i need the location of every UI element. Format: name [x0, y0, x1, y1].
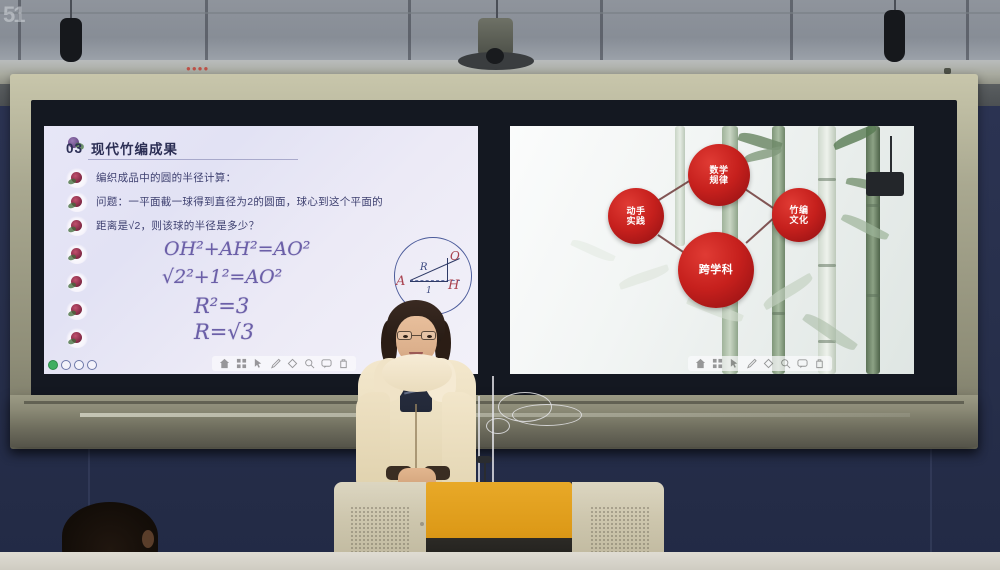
right-display-screen[interactable]: 数学 规律 动手 实践 竹编 文化 跨学科 [510, 126, 914, 374]
classroom-scene: 51 03 现代竹编成果 编织成品中的圆的半径计算： 问题：一平面截一球得到直径… [0, 0, 1000, 570]
diagram-label-O: O [450, 249, 460, 263]
left-whiteboard-toolbar[interactable] [212, 356, 356, 371]
slide-mini-controls[interactable] [48, 360, 97, 370]
teacher-arm-left [356, 392, 390, 490]
prev-button[interactable] [61, 360, 71, 370]
mindmap-node-label: 竹编 [789, 205, 808, 215]
slide-interdisciplinary-mindmap: 数学 规律 动手 实践 竹编 文化 跨学科 [510, 126, 914, 374]
rose-bullet-icon [66, 244, 88, 264]
cable-loop [512, 404, 582, 426]
mindmap-node-label: 规律 [709, 175, 728, 185]
grid-icon[interactable] [236, 358, 247, 369]
diagram-label-R: R [420, 262, 428, 273]
mindmap-node-label: 文化 [789, 215, 808, 225]
channel-watermark: 51 [0, 0, 34, 30]
bamboo-leaf [841, 211, 890, 243]
ceiling-speaker-right [884, 10, 905, 62]
foreground-desk [0, 552, 1000, 570]
mindmap-node-label: 跨学科 [699, 264, 734, 276]
pen-icon[interactable] [270, 358, 281, 369]
handwriting-line-4: R=√3 [194, 320, 254, 344]
rose-bullet-icon [66, 272, 88, 292]
mindmap-node-interdisciplinary[interactable]: 跨学科 [678, 232, 754, 308]
trash-icon[interactable] [814, 358, 825, 369]
mindmap-node-bamboo-culture[interactable]: 竹编 文化 [772, 188, 826, 242]
right-whiteboard-toolbar[interactable] [688, 356, 832, 371]
slide-number: 03 [66, 141, 83, 156]
rose-bullet-icon [66, 168, 88, 188]
mindmap-node-math-rules[interactable]: 数学 规律 [688, 144, 750, 206]
bamboo-stalk [866, 126, 880, 374]
wall-camera [866, 172, 904, 196]
play-button[interactable] [74, 360, 84, 370]
title-divider [88, 159, 298, 160]
rose-bullet-icon [66, 300, 88, 320]
slide-title: 现代竹编成果 [91, 138, 178, 158]
pen-icon[interactable] [746, 358, 757, 369]
slide-line-3: 距离是√2，则该球的半径是多少？ [96, 218, 259, 233]
bamboo-stalk [772, 126, 785, 374]
zoom-icon[interactable] [780, 358, 791, 369]
next-button[interactable] [87, 360, 97, 370]
mindmap-node-hands-on[interactable]: 动手 实践 [608, 188, 664, 244]
mindmap-node-label: 动手 [626, 206, 645, 216]
diagram-label-H: H [448, 278, 459, 293]
grid-icon[interactable] [712, 358, 723, 369]
rose-bullet-icon [66, 192, 88, 212]
mindmap-node-label: 数学 [709, 165, 728, 175]
handwriting-line-3: R²=3 [194, 294, 249, 318]
cable-loop [486, 418, 510, 434]
ceiling-speaker-left [60, 18, 82, 62]
bamboo-leaf [570, 237, 615, 265]
home-icon[interactable] [695, 358, 706, 369]
cursor-icon[interactable] [729, 358, 740, 369]
rose-bullet-icon [66, 216, 88, 236]
trash-icon[interactable] [338, 358, 349, 369]
slide-line-2: 问题：一平面截一球得到直径为2的圆面，球心到这个平面的 [96, 194, 383, 209]
slide-line-1: 编织成品中的圆的半径计算： [96, 170, 236, 185]
zoom-icon[interactable] [304, 358, 315, 369]
podium-brand-label: ●●●● [186, 64, 209, 73]
record-button[interactable] [48, 360, 58, 370]
comment-icon[interactable] [797, 358, 808, 369]
bamboo-leaf [761, 273, 815, 311]
teacher [352, 300, 482, 500]
home-icon[interactable] [219, 358, 230, 369]
glasses-icon [397, 331, 436, 340]
handwriting-line-1: OH²+AH²=AO² [164, 238, 310, 260]
diagram-label-A: A [396, 274, 405, 289]
shape-icon[interactable] [763, 358, 774, 369]
handwriting-line-2: √2²+1²=AO² [162, 266, 282, 288]
rose-bullet-icon [66, 328, 88, 348]
mindmap-node-label: 实践 [626, 216, 645, 226]
diagram-base-line [410, 281, 448, 282]
bamboo-leaf [618, 264, 671, 290]
projector-rod [496, 0, 498, 20]
shape-icon[interactable] [287, 358, 298, 369]
slide-title-row: 03 现代竹编成果 [66, 138, 178, 158]
cursor-icon[interactable] [253, 358, 264, 369]
diagram-label-1: 1 [426, 286, 432, 296]
projector-lens-icon [486, 48, 504, 64]
comment-icon[interactable] [321, 358, 332, 369]
